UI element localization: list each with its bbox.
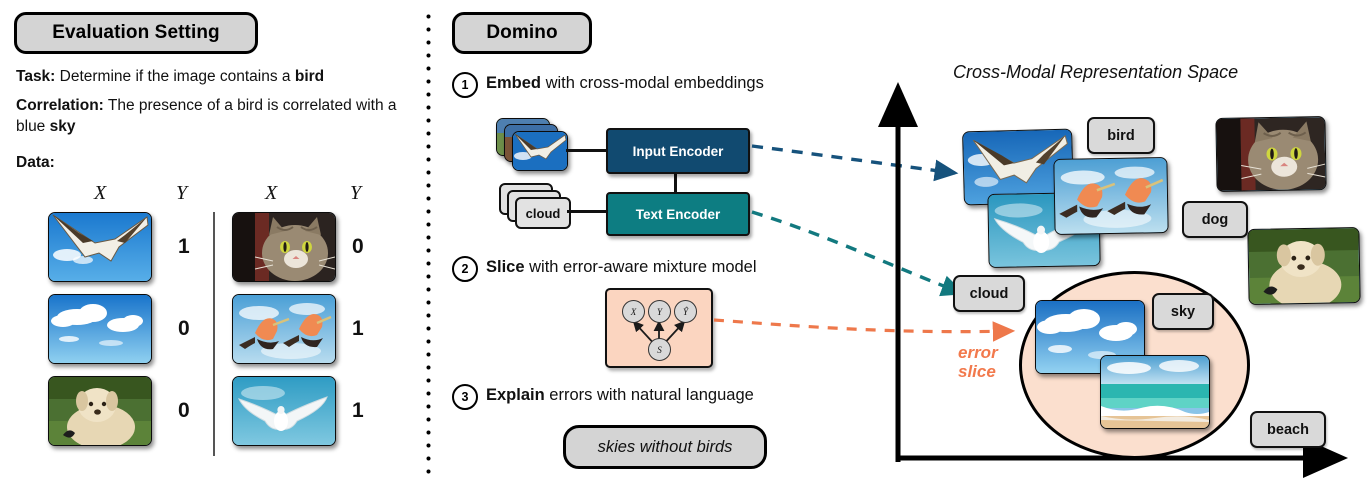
task-line: Task: Determine if the image contains a …	[16, 66, 416, 87]
tag-dog: dog	[1182, 201, 1248, 238]
golden-dog-grass-image	[1248, 228, 1359, 304]
evaluation-setting-header: Evaluation Setting	[14, 12, 258, 54]
task-bold: bird	[295, 68, 324, 85]
correlation-bold: sky	[50, 118, 76, 135]
seagull-blue-sky-image	[49, 213, 151, 281]
list-item	[232, 376, 336, 446]
embed-to-space-arrow-teal	[752, 212, 962, 293]
col1-row2-y: 0	[178, 317, 190, 341]
col2-x-header: X	[265, 182, 277, 205]
col2-row2-y: 1	[352, 317, 364, 341]
tag-bird: bird	[1087, 117, 1155, 154]
space-image-dog	[1247, 227, 1360, 305]
input-connector-line	[566, 149, 606, 152]
step-1-number: 1	[452, 72, 478, 98]
graph-node-y: Y	[648, 300, 671, 323]
clouds-blue-sky-image	[49, 295, 151, 363]
graphical-model-box: X Y Ŷ S	[605, 288, 713, 368]
text-connector-line	[567, 210, 606, 213]
two-orange-spoonbills-image	[233, 295, 335, 363]
task-text: Determine if the image contains a	[55, 68, 295, 85]
data-label: Data:	[16, 152, 55, 173]
list-item	[48, 376, 152, 446]
list-item	[232, 294, 336, 364]
explanation-pill: skies without birds	[563, 425, 767, 469]
step-2-number: 2	[452, 256, 478, 282]
slice-to-space-arrow-orange	[714, 320, 1012, 332]
list-item	[48, 212, 152, 282]
encoder-link-line	[674, 172, 677, 194]
input-encoder-box: Input Encoder	[606, 128, 750, 174]
domino-header: Domino	[452, 12, 592, 54]
col1-x-header: X	[94, 182, 106, 205]
step-3-number: 3	[452, 384, 478, 410]
two-orange-spoonbills-image	[1054, 158, 1167, 234]
tag-sky: sky	[1152, 293, 1214, 330]
beach-turquoise-sea-image	[1101, 356, 1209, 428]
tabby-cat-image	[1216, 117, 1325, 191]
representation-space-title: Cross-Modal Representation Space	[953, 62, 1238, 83]
space-image-spoonbills	[1053, 157, 1168, 235]
list-item	[48, 294, 152, 364]
col1-y-header: Y	[176, 182, 187, 205]
col2-y-header: Y	[350, 182, 361, 205]
graph-node-x: X	[622, 300, 645, 323]
step-3-text: Explain errors with natural language	[486, 386, 754, 405]
tag-beach: beach	[1250, 411, 1326, 448]
col2-row3-y: 1	[352, 399, 364, 423]
space-image-cat	[1215, 116, 1326, 192]
space-image-beach	[1100, 355, 1210, 429]
graph-node-s: S	[648, 338, 671, 361]
panel-divider	[426, 10, 431, 478]
col2-row1-y: 0	[352, 235, 364, 259]
col1-row1-y: 1	[178, 235, 190, 259]
text-encoder-box: Text Encoder	[606, 192, 750, 236]
tabby-cat-image	[233, 213, 335, 281]
input-image-stack-front	[512, 131, 568, 171]
golden-dog-grass-image	[49, 377, 151, 445]
error-slice-label: error slice	[958, 343, 998, 381]
step-2-text: Slice with error-aware mixture model	[486, 258, 757, 277]
tag-cloud: cloud	[953, 275, 1025, 312]
column-separator	[213, 212, 215, 456]
text-token-cloud: cloud	[515, 197, 571, 229]
embed-to-space-arrow-navy	[752, 146, 955, 173]
list-item	[232, 212, 336, 282]
task-label: Task:	[16, 68, 55, 85]
correlation-line: Correlation: The presence of a bird is c…	[16, 95, 406, 137]
step-1-text: Embed with cross-modal embeddings	[486, 74, 764, 93]
correlation-label: Correlation:	[16, 97, 104, 114]
white-bird-flying-image	[233, 377, 335, 445]
graph-node-yhat: Ŷ	[674, 300, 697, 323]
col1-row3-y: 0	[178, 399, 190, 423]
stack-image-front-seagull	[513, 132, 567, 170]
